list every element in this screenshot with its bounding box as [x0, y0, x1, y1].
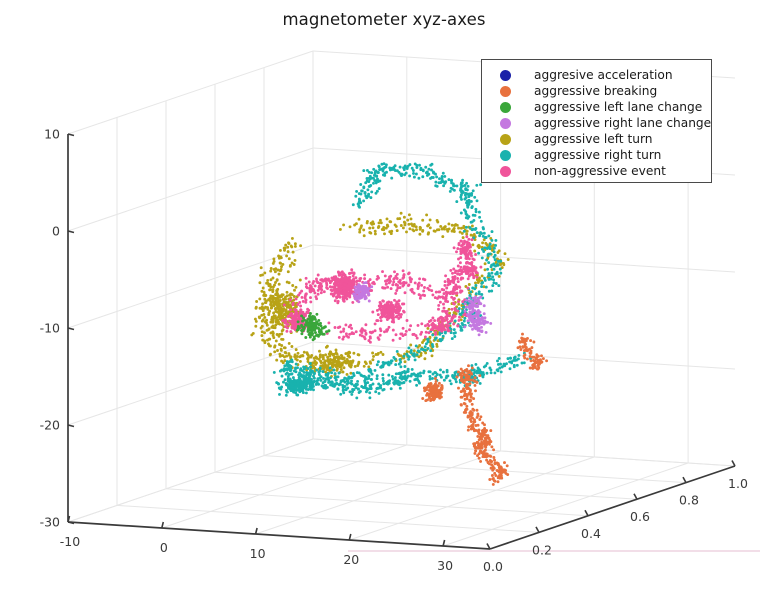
scatter-point: [444, 300, 447, 303]
scatter-point: [368, 391, 371, 394]
scatter-point: [295, 385, 298, 388]
scatter-point: [394, 292, 397, 295]
scatter-point: [516, 364, 519, 367]
chart-container: magnetometer xyz-axes 100-10-20-30-10010…: [0, 0, 768, 595]
scatter-point: [357, 283, 360, 286]
scatter-point: [453, 224, 456, 227]
scatter-point: [369, 386, 372, 389]
scatter-point: [363, 234, 366, 237]
scatter-point: [284, 378, 287, 381]
scatter-point: [350, 393, 353, 396]
scatter-point: [440, 388, 443, 391]
scatter-point: [509, 367, 512, 370]
scatter-point: [314, 284, 317, 287]
scatter-point: [345, 296, 348, 299]
scatter-point: [472, 305, 475, 308]
scatter-point: [400, 212, 403, 215]
scatter-point: [390, 301, 393, 304]
scatter-point: [476, 409, 479, 412]
scatter-point: [346, 358, 349, 361]
scatter-point: [449, 269, 452, 272]
scatter-point: [434, 390, 437, 393]
scatter-point: [305, 277, 308, 280]
scatter-point: [315, 321, 318, 324]
scatter-point: [453, 332, 456, 335]
scatter-point: [284, 318, 287, 321]
scatter-point: [382, 363, 385, 366]
axis-tick: [68, 231, 74, 233]
grid-line-back-wall-horizontal: [313, 245, 735, 272]
scatter-point: [469, 290, 472, 293]
scatter-point: [274, 270, 277, 273]
scatter-point: [417, 177, 420, 180]
scatter-point: [386, 225, 389, 228]
scatter-point: [393, 270, 396, 273]
scatter-point: [451, 188, 454, 191]
scatter-point: [264, 320, 267, 323]
scatter-point: [494, 239, 497, 242]
scatter-point: [456, 376, 459, 379]
scatter-point: [474, 376, 477, 379]
scatter-point: [458, 307, 461, 310]
scatter-point: [300, 290, 303, 293]
scatter-point: [438, 397, 441, 400]
scatter-point: [456, 324, 459, 327]
scatter-point: [482, 455, 485, 458]
scatter-point: [304, 380, 307, 383]
scatter-point: [308, 315, 311, 318]
scatter-point: [276, 269, 279, 272]
scatter-point: [420, 284, 423, 287]
scatter-point: [444, 225, 447, 228]
legend[interactable]: aggresive accelerationaggressive breakin…: [481, 59, 712, 183]
scatter-point: [478, 374, 481, 377]
scatter-point: [356, 297, 359, 300]
scatter-point: [408, 227, 411, 230]
scatter-point: [397, 383, 400, 386]
scatter-point: [463, 320, 466, 323]
scatter-point: [486, 372, 489, 375]
scatter-point: [490, 467, 493, 470]
scatter-point: [339, 330, 342, 333]
scatter-point: [403, 173, 406, 176]
scatter-point: [439, 338, 442, 341]
scatter-point: [425, 394, 428, 397]
scatter-point: [470, 364, 473, 367]
scatter-point: [370, 177, 373, 180]
scatter-point: [275, 317, 278, 320]
legend-item[interactable]: aggressive left lane change: [482, 99, 711, 115]
legend-marker-icon: [500, 70, 511, 81]
scatter-point: [481, 452, 484, 455]
scatter-point: [365, 387, 368, 390]
scatter-point: [457, 303, 460, 306]
scatter-point: [365, 196, 368, 199]
scatter-point: [273, 371, 276, 374]
scatter-point: [316, 281, 319, 284]
scatter-point: [468, 262, 471, 265]
scatter-point: [322, 386, 325, 389]
scatter-point: [416, 374, 419, 377]
scatter-point: [486, 268, 489, 271]
scatter-point: [407, 165, 410, 168]
scatter-point: [476, 231, 479, 234]
scatter-point: [274, 307, 277, 310]
scatter-point: [413, 349, 416, 352]
scatter-point: [378, 165, 381, 168]
scatter-point: [399, 387, 402, 390]
scatter-point: [462, 236, 465, 239]
scatter-point: [368, 227, 371, 230]
scatter-point: [322, 377, 325, 380]
scatter-point: [319, 367, 322, 370]
scatter-point: [485, 259, 488, 262]
scatter-point: [469, 400, 472, 403]
scatter-point: [268, 288, 271, 291]
scatter-point: [458, 243, 461, 246]
scatter-point: [386, 217, 389, 220]
scatter-point: [355, 396, 358, 399]
scatter-point: [498, 477, 501, 480]
scatter-point: [479, 434, 482, 437]
legend-item[interactable]: aggresive acceleration: [482, 67, 711, 83]
scatter-point: [461, 184, 464, 187]
scatter-point: [299, 305, 302, 308]
scatter-point: [447, 178, 450, 181]
scatter-point: [498, 357, 501, 360]
scatter-point: [339, 285, 342, 288]
scatter-point: [339, 393, 342, 396]
scatter-point: [389, 275, 392, 278]
scatter-point: [351, 376, 354, 379]
scatter-point: [493, 371, 496, 374]
scatter-point: [460, 212, 463, 215]
scatter-point: [312, 388, 315, 391]
scatter-point: [355, 383, 358, 386]
scatter-point: [299, 244, 302, 247]
scatter-point: [278, 387, 281, 390]
scatter-point: [444, 180, 447, 183]
scatter-point: [457, 258, 460, 261]
legend-item-label: aggressive right turn: [534, 149, 661, 161]
scatter-point: [399, 282, 402, 285]
legend-item[interactable]: aggressive right turn: [482, 147, 711, 163]
scatter-point: [301, 320, 304, 323]
scatter-point: [491, 474, 494, 477]
scatter-point: [494, 244, 497, 247]
scatter-point: [314, 331, 317, 334]
scatter-point: [493, 472, 496, 475]
scatter-point: [493, 467, 496, 470]
scatter-point: [294, 245, 297, 248]
scatter-point: [293, 295, 296, 298]
scatter-point: [384, 274, 387, 277]
scatter-point: [355, 280, 358, 283]
scatter-point: [474, 449, 477, 452]
scatter-point: [295, 297, 298, 300]
scatter-point: [389, 220, 392, 223]
scatter-point: [280, 332, 283, 335]
scatter-point: [277, 295, 280, 298]
scatter-point: [443, 292, 446, 295]
scatter-point: [261, 320, 264, 323]
scatter-point: [381, 310, 384, 313]
scatter-point: [317, 335, 320, 338]
scatter-point: [366, 220, 369, 223]
scatter-point: [440, 316, 443, 319]
scatter-point: [286, 391, 289, 394]
scatter-point: [343, 366, 346, 369]
legend-item[interactable]: aggressive breaking: [482, 83, 711, 99]
scatter-point: [292, 376, 295, 379]
scatter-point: [258, 316, 261, 319]
scatter-point: [484, 316, 487, 319]
scatter-point: [348, 333, 351, 336]
scatter-point: [453, 303, 456, 306]
scatter-point: [454, 320, 457, 323]
scatter-point: [404, 333, 407, 336]
scatter-point: [369, 335, 372, 338]
scatter-point: [475, 292, 478, 295]
scatter-point: [441, 235, 444, 238]
scatter-point: [326, 364, 329, 367]
scatter-point: [317, 323, 320, 326]
scatter-point: [382, 379, 385, 382]
scatter-point: [529, 339, 532, 342]
scatter-point: [396, 169, 399, 172]
scatter-point: [484, 236, 487, 239]
scatter-point: [283, 300, 286, 303]
scatter-point: [458, 316, 461, 319]
scatter-point: [326, 279, 329, 282]
scatter-point: [346, 378, 349, 381]
scatter-point: [294, 357, 297, 360]
scatter-point: [447, 222, 450, 225]
scatter-point: [366, 180, 369, 183]
scatter-point: [367, 193, 370, 196]
scatter-point: [452, 297, 455, 300]
scatter-point: [378, 221, 381, 224]
axis-tick: [683, 477, 686, 483]
scatter-point: [496, 251, 499, 254]
scatter-point: [255, 320, 258, 323]
scatter-point: [418, 164, 421, 167]
scatter-point: [471, 379, 474, 382]
scatter-point: [476, 371, 479, 374]
scatter-point: [475, 210, 478, 213]
scatter-point: [506, 473, 509, 476]
scatter-point: [533, 356, 536, 359]
scatter-point: [471, 243, 474, 246]
scatter-point: [443, 175, 446, 178]
scatter-point: [394, 358, 397, 361]
scatter-point: [378, 392, 381, 395]
scatter-point: [348, 351, 351, 354]
scatter-point: [471, 328, 474, 331]
scatter-point: [484, 440, 487, 443]
scatter-point: [490, 278, 493, 281]
scatter-point: [318, 329, 321, 332]
scatter-point: [281, 319, 284, 322]
scatter-point: [475, 424, 478, 427]
scatter-point: [407, 368, 410, 371]
scatter-point: [404, 164, 407, 167]
scatter-point: [274, 324, 277, 327]
scatter-point: [465, 235, 468, 238]
scatter-point: [494, 258, 497, 261]
scatter-point: [388, 281, 391, 284]
scatter-point: [329, 376, 332, 379]
scatter-point: [526, 358, 529, 361]
x-axis-tick-label: 20: [343, 552, 359, 567]
scatter-point: [450, 319, 453, 322]
x-axis-tick-label: 30: [437, 558, 453, 573]
scatter-point: [442, 319, 445, 322]
scatter-point: [407, 358, 410, 361]
scatter-point: [450, 179, 453, 182]
scatter-point: [337, 288, 340, 291]
scatter-point: [493, 268, 496, 271]
scatter-point: [300, 332, 303, 335]
scatter-point: [299, 380, 302, 383]
scatter-point: [308, 281, 311, 284]
scatter-point: [332, 360, 335, 363]
legend-item[interactable]: aggressive left turn: [482, 131, 711, 147]
scatter-points: [250, 162, 548, 486]
scatter-point: [461, 300, 464, 303]
scatter-point: [479, 266, 482, 269]
scatter-point: [479, 438, 482, 441]
scatter-point: [425, 213, 428, 216]
scatter-point: [460, 270, 463, 273]
scatter-point: [408, 328, 411, 331]
scatter-point: [402, 282, 405, 285]
scatter-point: [497, 284, 500, 287]
scatter-point: [479, 450, 482, 453]
scatter-point: [279, 249, 282, 252]
scatter-point: [378, 187, 381, 190]
scatter-point: [402, 269, 405, 272]
scatter-point: [399, 286, 402, 289]
legend-item[interactable]: aggressive right lane change: [482, 115, 711, 131]
scatter-point: [517, 357, 520, 360]
scatter-point: [465, 226, 468, 229]
scatter-point: [337, 300, 340, 303]
scatter-point: [411, 290, 414, 293]
scatter-point: [430, 169, 433, 172]
scatter-point: [464, 302, 467, 305]
scatter-point: [471, 403, 474, 406]
scatter-point: [382, 377, 385, 380]
scatter-point: [452, 279, 455, 282]
scatter-point: [292, 251, 295, 254]
scatter-point: [413, 352, 416, 355]
scatter-point: [260, 266, 263, 269]
scatter-point: [362, 199, 365, 202]
scatter-point: [305, 285, 308, 288]
scatter-point: [358, 277, 361, 280]
scatter-point: [522, 345, 525, 348]
scatter-point: [419, 228, 422, 231]
scatter-point: [492, 448, 495, 451]
scatter-point: [473, 196, 476, 199]
scatter-point: [426, 327, 429, 330]
scatter-point: [357, 300, 360, 303]
scatter-point: [401, 303, 404, 306]
scatter-point: [365, 333, 368, 336]
scatter-point: [467, 238, 470, 241]
scatter-point: [315, 369, 318, 372]
scatter-point: [453, 246, 456, 249]
scatter-point: [338, 372, 341, 375]
z-axis-tick-label: 0: [52, 224, 60, 239]
scatter-point: [497, 369, 500, 372]
scatter-point: [385, 171, 388, 174]
scatter-point: [317, 319, 320, 322]
scatter-point: [421, 229, 424, 232]
scatter-point: [266, 324, 269, 327]
scatter-point: [306, 377, 309, 380]
scatter-point: [507, 357, 510, 360]
scatter-point: [332, 278, 335, 281]
scatter-point: [465, 368, 468, 371]
scatter-point: [498, 275, 501, 278]
scatter-point: [320, 291, 323, 294]
scatter-point: [364, 295, 367, 298]
scatter-point: [439, 301, 442, 304]
scatter-point: [364, 384, 367, 387]
scatter-point: [412, 172, 415, 175]
scatter-point: [490, 264, 493, 267]
scatter-point: [337, 278, 340, 281]
scatter-point: [281, 375, 284, 378]
scatter-point: [531, 366, 534, 369]
scatter-point: [283, 313, 286, 316]
scatter-point: [369, 232, 372, 235]
scatter-point: [340, 354, 343, 357]
scatter-point: [364, 381, 367, 384]
scatter-point: [318, 350, 321, 353]
scatter-point: [455, 380, 458, 383]
scatter-point: [313, 324, 316, 327]
scatter-point: [405, 330, 408, 333]
scatter-point: [463, 198, 466, 201]
scatter-point: [286, 368, 289, 371]
scatter-point: [513, 356, 516, 359]
scatter-point: [376, 309, 379, 312]
scatter-point: [304, 313, 307, 316]
scatter-point: [403, 370, 406, 373]
scatter-point: [471, 205, 474, 208]
scatter-point: [267, 328, 270, 331]
scatter-point: [383, 232, 386, 235]
scatter-point: [259, 274, 262, 277]
scatter-point: [368, 171, 371, 174]
scatter-point: [347, 354, 350, 357]
scatter-point: [280, 360, 283, 363]
scatter-point: [365, 362, 368, 365]
scatter-point: [415, 173, 418, 176]
scatter-point: [369, 360, 372, 363]
scatter-point: [451, 230, 454, 233]
scatter-point: [389, 316, 392, 319]
scatter-point: [358, 289, 361, 292]
scatter-point: [499, 363, 502, 366]
scatter-point: [489, 429, 492, 432]
scatter-point: [445, 293, 448, 296]
legend-item[interactable]: non-aggressive event: [482, 163, 711, 179]
scatter-point: [330, 293, 333, 296]
